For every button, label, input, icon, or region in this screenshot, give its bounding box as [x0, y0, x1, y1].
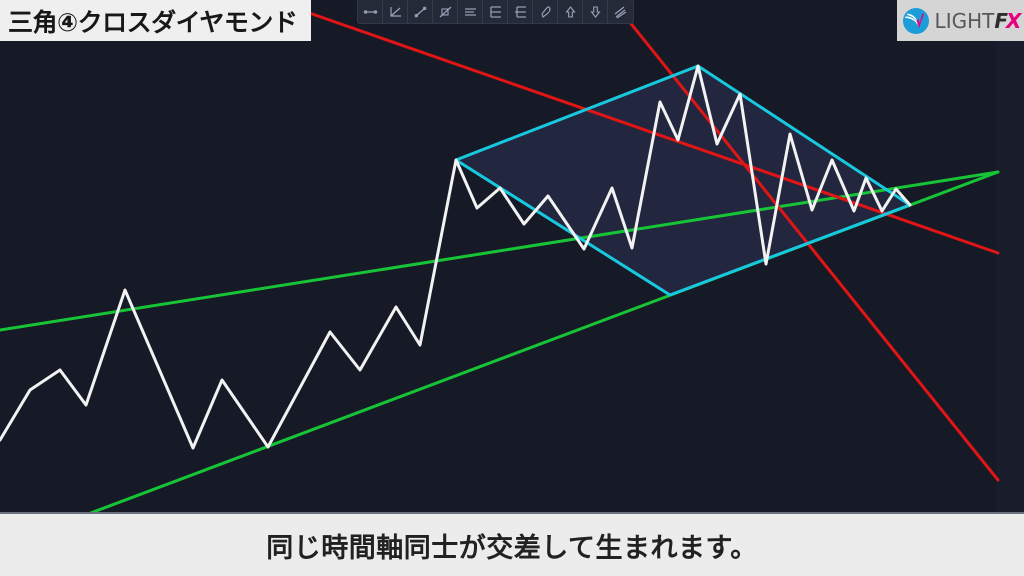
- brand-wordmark: LIGHTFX: [935, 11, 1020, 31]
- caption-divider: [0, 512, 1024, 514]
- slide-title-plate: 三角④クロスダイヤモンド: [0, 0, 311, 41]
- page-title: 三角④クロスダイヤモンド: [8, 3, 297, 39]
- chart-drawings: [0, 0, 1024, 514]
- pitchfork-icon[interactable]: [483, 0, 508, 23]
- angle-icon[interactable]: [383, 0, 408, 23]
- caption-text: 同じ時間軸同士が交差して生まれます。: [266, 526, 758, 565]
- drawing-tools-toolbar[interactable]: [357, 0, 634, 24]
- arrow-up-icon[interactable]: [558, 0, 583, 23]
- ray-icon[interactable]: [408, 0, 433, 23]
- parallel-channel-icon[interactable]: [608, 0, 633, 23]
- arrow-down-icon[interactable]: [583, 0, 608, 23]
- horizontal-lines-icon[interactable]: [458, 0, 483, 23]
- app-window: 三角④クロスダイヤモンド LIGHTFX 同じ時間軸同士が交差して生まれます。: [0, 0, 1024, 576]
- trend-line-icon[interactable]: [358, 0, 383, 23]
- brand-logo: LIGHTFX: [897, 0, 1024, 41]
- price-chart-canvas[interactable]: [0, 0, 1024, 514]
- schiff-pitchfork-icon[interactable]: [508, 0, 533, 23]
- brand-suffix: FX: [994, 9, 1019, 33]
- lightfx-circle-logo-icon: [902, 7, 930, 35]
- brush-icon[interactable]: [533, 0, 558, 23]
- brand-name: LIGHT: [935, 9, 995, 33]
- subtitle-caption-bar: 同じ時間軸同士が交差して生まれます。: [0, 514, 1024, 576]
- extended-line-icon[interactable]: [433, 0, 458, 23]
